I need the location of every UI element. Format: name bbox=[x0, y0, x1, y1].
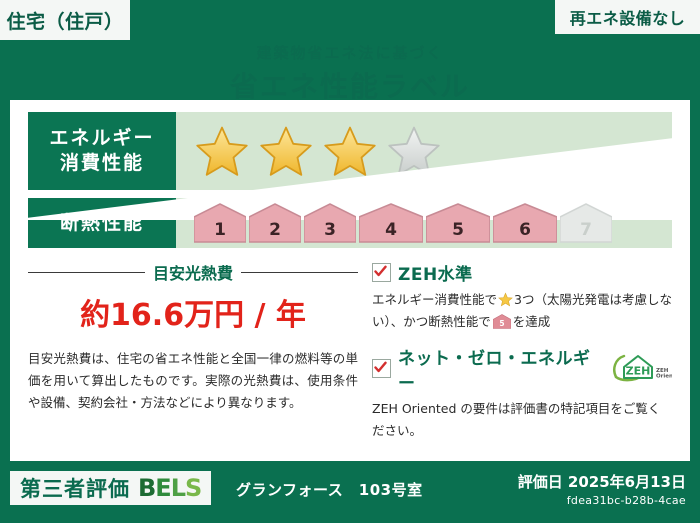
label-footer: 第三者評価 BELS グランフォース 103号室 評価日 2025年6月13日 … bbox=[0, 461, 700, 523]
energy-performance-label-key: エネルギー 消費性能 bbox=[28, 112, 176, 190]
net-zero-energy-item: ネット・ゼロ・エネルギー ZEH ZEH Oriented bbox=[372, 344, 672, 442]
bels-logo: BELS bbox=[138, 474, 201, 502]
zeh-body-part1: エネルギー消費性能で bbox=[372, 292, 497, 307]
svg-text:Oriented: Oriented bbox=[656, 373, 672, 379]
renewable-equipment-chip: 再エネ設備なし bbox=[555, 0, 700, 34]
insulation-level-badge: 1 bbox=[194, 203, 246, 243]
utility-cost-heading: 目安光熱費 bbox=[28, 260, 358, 284]
insulation-level-number: 5 bbox=[426, 220, 490, 240]
label-title: 建築物省エネ法に基づく 省エネ性能ラベル bbox=[0, 42, 700, 105]
evaluation-date: 評価日 2025年6月13日 bbox=[518, 471, 686, 492]
inline-star-icon bbox=[498, 292, 513, 307]
building-name: グランフォース 103号室 bbox=[236, 479, 423, 500]
energy-key-line2: 消費性能 bbox=[60, 151, 144, 176]
bels-japanese-text: 第三者評価 bbox=[20, 473, 130, 503]
insulation-level-number: 1 bbox=[194, 220, 246, 240]
zeh-standard-head: ZEH水準 bbox=[372, 260, 672, 285]
utility-cost-heading-text: 目安光熱費 bbox=[153, 260, 233, 284]
insulation-level-badge: 5 bbox=[426, 203, 490, 243]
insulation-level-badge: 2 bbox=[249, 203, 301, 243]
insulation-level-badge: 4 bbox=[359, 203, 423, 243]
checkbox-checked-icon-2 bbox=[372, 359, 391, 378]
insulation-level-number: 7 bbox=[560, 220, 612, 240]
label-body-card: エネルギー 消費性能 断熱性能 1234567 目安光熱費 約16.6万 bbox=[10, 100, 690, 461]
zeh-section: ZEH水準 エネルギー消費性能で3つ（太陽光発電は考慮しない）、かつ断熱性能で5… bbox=[358, 260, 672, 450]
housing-type-chip: 住宅（住戸） bbox=[0, 0, 130, 40]
insulation-level-scale: 1234567 bbox=[194, 203, 612, 243]
checkbox-checked-icon bbox=[372, 263, 391, 282]
net-zero-energy-body: ZEH Oriented の要件は評価書の特記項目をご覧ください。 bbox=[372, 398, 672, 442]
energy-performance-label: 住宅（住戸） 再エネ設備なし 建築物省エネ法に基づく 省エネ性能ラベル エネルギ… bbox=[0, 0, 700, 523]
energy-performance-row: エネルギー 消費性能 bbox=[28, 112, 672, 190]
insulation-level-number: 6 bbox=[493, 220, 557, 240]
net-zero-energy-title: ネット・ゼロ・エネルギー bbox=[398, 344, 603, 394]
insulation-performance-label-key: 断熱性能 bbox=[28, 198, 176, 248]
zeh-oriented-logo: ZEH ZEH Oriented bbox=[612, 352, 672, 386]
utility-cost-note: 目安光熱費は、住宅の省エネ性能と全国一律の燃料等の単価を用いて算出したものです。… bbox=[28, 348, 358, 414]
net-zero-energy-head: ネット・ゼロ・エネルギー ZEH ZEH Oriented bbox=[372, 344, 672, 394]
energy-performance-value bbox=[176, 112, 672, 190]
evaluation-id: fdea31bc-b28b-4cae bbox=[518, 494, 686, 507]
evaluation-info: 評価日 2025年6月13日 fdea31bc-b28b-4cae bbox=[518, 471, 686, 507]
insulation-level-number: 2 bbox=[249, 220, 301, 240]
lower-section: 目安光熱費 約16.6万円 / 年 目安光熱費は、住宅の省エネ性能と全国一律の燃… bbox=[28, 260, 672, 450]
zeh-standard-title: ZEH水準 bbox=[398, 260, 473, 285]
rule-right bbox=[241, 272, 358, 273]
star-empty-icon bbox=[386, 124, 442, 178]
star-filled-icon bbox=[194, 124, 250, 178]
inline-level-badge: 5 bbox=[493, 314, 511, 336]
zeh-standard-body: エネルギー消費性能で3つ（太陽光発電は考慮しない）、かつ断熱性能で5を達成 bbox=[372, 289, 672, 336]
insulation-level-badge: 3 bbox=[304, 203, 356, 243]
utility-cost-section: 目安光熱費 約16.6万円 / 年 目安光熱費は、住宅の省エネ性能と全国一律の燃… bbox=[28, 260, 358, 450]
insulation-level-badge: 6 bbox=[493, 203, 557, 243]
utility-cost-value: 約16.6万円 / 年 bbox=[28, 290, 358, 334]
insulation-performance-value: 1234567 bbox=[176, 198, 672, 248]
insulation-level-badge: 7 bbox=[560, 203, 612, 243]
zeh-body-part3: を達成 bbox=[513, 314, 551, 329]
bels-badge: 第三者評価 BELS bbox=[10, 471, 211, 505]
insulation-performance-row: 断熱性能 1234567 bbox=[28, 198, 672, 248]
energy-key-line1: エネルギー bbox=[49, 126, 154, 151]
rule-left bbox=[28, 272, 145, 273]
title-main: 省エネ性能ラベル bbox=[0, 65, 700, 105]
title-subtitle: 建築物省エネ法に基づく bbox=[0, 42, 700, 63]
star-rating bbox=[194, 124, 442, 178]
zeh-standard-item: ZEH水準 エネルギー消費性能で3つ（太陽光発電は考慮しない）、かつ断熱性能で5… bbox=[372, 260, 672, 336]
star-filled-icon bbox=[322, 124, 378, 178]
insulation-level-number: 4 bbox=[359, 220, 423, 240]
insulation-level-number: 3 bbox=[304, 220, 356, 240]
svg-text:5: 5 bbox=[499, 319, 504, 328]
svg-text:ZEH: ZEH bbox=[626, 364, 651, 377]
star-filled-icon bbox=[258, 124, 314, 178]
